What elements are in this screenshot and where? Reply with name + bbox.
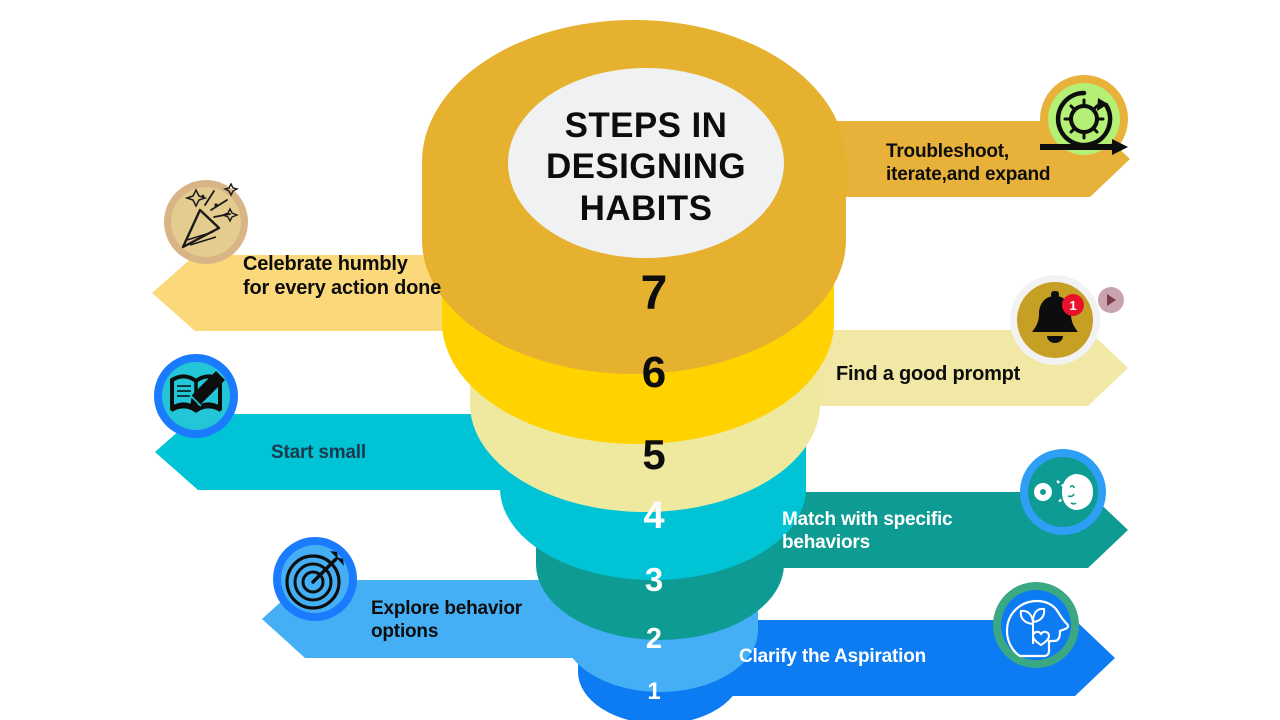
step-number-7: 7 [594,266,714,321]
step-number-1: 1 [594,678,714,706]
banner-label-prompt: Find a good prompt [836,362,1136,386]
banner-label-clarify: Clarify the Aspiration [739,645,1039,668]
page-title: STEPS IN DESIGNING HABITS [508,105,784,229]
step-number-3: 3 [594,561,714,599]
step-number-5: 5 [594,431,714,479]
step-number-4: 4 [594,495,714,538]
step-number-6: 6 [594,348,714,398]
bell-notification-icon: 1 [1010,275,1100,365]
party-popper-icon [164,180,248,264]
banner-label-celebrate: Celebrate humbly for every action done [243,252,543,301]
bell-badge-count: 1 [1069,298,1076,313]
target-dart-icon [273,537,357,621]
banner-label-troubleshoot: Troubleshoot, iterate,and expand [886,140,1176,186]
banner-label-match: Match with specific behaviors [782,508,1062,554]
banner-label-start-small: Start small [271,441,571,464]
play-circle-icon[interactable] [1098,287,1124,313]
book-pencil-icon [154,354,238,438]
infographic-canvas: 1 [0,0,1280,720]
banner-label-explore: Explore behavior options [371,597,651,643]
